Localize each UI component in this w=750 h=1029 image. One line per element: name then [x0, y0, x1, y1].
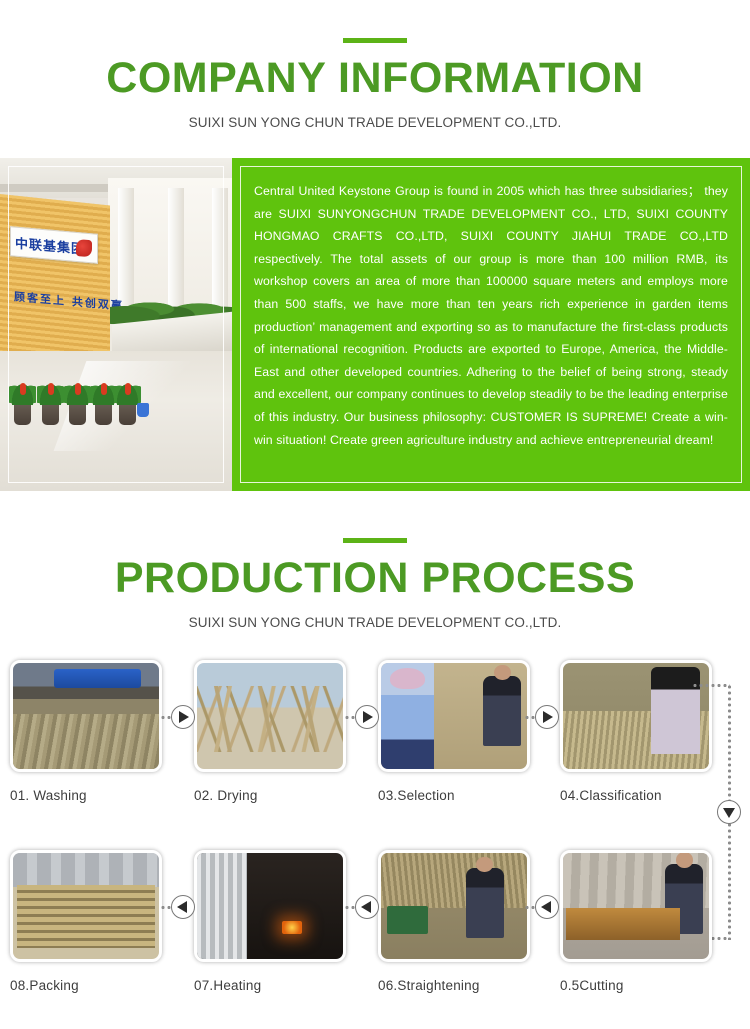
company-name-subtitle: SUIXI SUN YONG CHUN TRADE DEVELOPMENT CO… — [0, 615, 750, 630]
process-step-heating[interactable]: 07.Heating — [194, 850, 346, 993]
process-step-label: 04.Classification — [560, 788, 712, 803]
worker-figure — [665, 864, 703, 934]
page-root: COMPANY INFORMATION SUIXI SUN YONG CHUN … — [0, 0, 750, 1029]
packing-photo — [13, 853, 159, 959]
connector-dots — [692, 684, 730, 687]
potted-plant — [14, 399, 31, 425]
process-card[interactable] — [194, 850, 346, 962]
potted-plant — [119, 399, 136, 425]
company-lobby-photo: 中联基集团 顾客至上 共创双赢 — [0, 158, 232, 491]
triangle-down-glyph — [723, 808, 735, 818]
process-card[interactable] — [378, 850, 530, 962]
triangle-right-glyph — [543, 711, 553, 723]
production-process-grid: 01. Washing 02. Drying — [0, 660, 750, 1029]
drying-photo — [197, 663, 343, 769]
process-step-drying[interactable]: 02. Drying — [194, 660, 346, 803]
process-row-top: 01. Washing 02. Drying — [0, 660, 750, 810]
process-step-classification[interactable]: 04.Classification — [560, 660, 712, 803]
process-step-label: 02. Drying — [194, 788, 346, 803]
process-step-cutting[interactable]: 0.5Cutting — [560, 850, 712, 993]
heading-rule — [343, 538, 407, 543]
process-step-label: 01. Washing — [10, 788, 162, 803]
company-description-panel: Central United Keystone Group is found i… — [232, 158, 750, 491]
cutting-photo — [563, 853, 709, 959]
lobby-floor — [0, 351, 232, 491]
lobby-illustration: 中联基集团 顾客至上 共创双赢 — [0, 158, 232, 491]
process-card[interactable] — [10, 850, 162, 962]
arrow-right-icon — [355, 705, 379, 729]
triangle-right-glyph — [179, 711, 189, 723]
arrow-left-icon — [171, 895, 195, 919]
arrow-left-icon — [355, 895, 379, 919]
company-banner: 中联基集团 顾客至上 共创双赢 Central United Keystone … — [0, 158, 750, 491]
process-step-straightening[interactable]: 06.Straightening — [378, 850, 530, 993]
classification-photo — [563, 663, 709, 769]
production-process-section-header: PRODUCTION PROCESS SUIXI SUN YONG CHUN T… — [0, 514, 750, 630]
process-step-label: 07.Heating — [194, 978, 346, 993]
selection-photo — [381, 663, 527, 769]
arrow-down-icon — [717, 800, 741, 824]
potted-plant — [42, 399, 59, 425]
potted-plant — [69, 399, 86, 425]
arrow-right-icon — [171, 705, 195, 729]
worker-figure — [466, 868, 504, 938]
process-card[interactable] — [10, 660, 162, 772]
arrow-left-icon — [535, 895, 559, 919]
process-step-selection[interactable]: 03.Selection — [378, 660, 530, 803]
process-row-bottom: 08.Packing 07.Heating — [0, 850, 750, 1000]
page-title: COMPANY INFORMATION — [0, 53, 750, 103]
arrow-right-icon — [535, 705, 559, 729]
section-title: PRODUCTION PROCESS — [0, 553, 750, 603]
washing-photo — [13, 663, 159, 769]
triangle-right-glyph — [363, 711, 373, 723]
triangle-left-glyph — [177, 901, 187, 913]
company-description-text: Central United Keystone Group is found i… — [254, 180, 728, 451]
process-card[interactable] — [560, 660, 712, 772]
worker-figure — [483, 676, 521, 746]
process-step-label: 03.Selection — [378, 788, 530, 803]
blue-bucket — [137, 403, 149, 417]
company-sign-text: 中联基集团 — [15, 233, 85, 258]
heading-rule — [343, 38, 407, 43]
process-card[interactable] — [560, 850, 712, 962]
process-step-packing[interactable]: 08.Packing — [10, 850, 162, 993]
process-card[interactable] — [378, 660, 530, 772]
company-information-section-header: COMPANY INFORMATION SUIXI SUN YONG CHUN … — [0, 0, 750, 130]
process-step-label: 08.Packing — [10, 978, 162, 993]
straightening-photo — [381, 853, 527, 959]
company-name-subtitle: SUIXI SUN YONG CHUN TRADE DEVELOPMENT CO… — [0, 115, 750, 130]
potted-plant — [95, 399, 112, 425]
triangle-left-glyph — [541, 901, 551, 913]
process-step-label: 06.Straightening — [378, 978, 530, 993]
heating-photo — [197, 853, 343, 959]
company-logo-mark — [76, 239, 92, 257]
triangle-left-glyph — [361, 901, 371, 913]
process-step-label: 0.5Cutting — [560, 978, 712, 993]
process-step-washing[interactable]: 01. Washing — [10, 660, 162, 803]
process-card[interactable] — [194, 660, 346, 772]
